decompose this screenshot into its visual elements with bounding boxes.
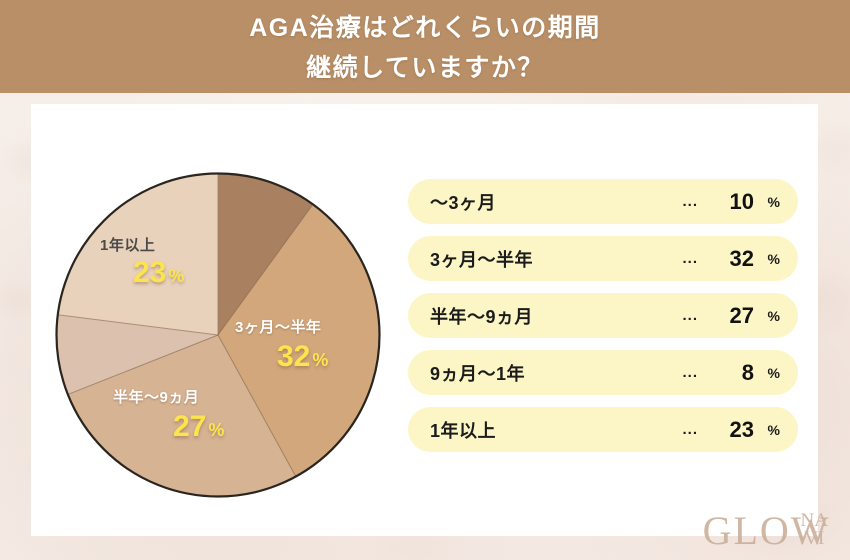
legend-label: 3ヶ月〜半年 [430, 246, 682, 272]
legend-dots: ... [682, 193, 698, 210]
pie-slices [56, 174, 379, 497]
legend-unit: % [754, 365, 780, 381]
header-banner: AGA治療はどれくらいの期間 継続していますか？ [0, 0, 850, 93]
legend-value: 27 [712, 303, 754, 329]
legend-value: 32 [712, 246, 754, 272]
legend-dots: ... [682, 364, 698, 381]
pie-slice [58, 174, 218, 336]
legend-row[interactable]: 〜3ヶ月 ... 10 % [408, 179, 798, 224]
legend-row[interactable]: 9ヵ月〜1年 ... 8 % [408, 350, 798, 395]
page-title-line-2: 継続していますか？ [306, 48, 544, 88]
legend-label: 半年〜9ヵ月 [430, 303, 682, 329]
legend-dots: ... [682, 250, 698, 267]
legend-row[interactable]: 半年〜9ヵ月 ... 27 % [408, 293, 798, 338]
legend-unit: % [754, 422, 780, 438]
legend-dots: ... [682, 307, 698, 324]
page-title-line-1: AGA治療はどれくらいの期間 [249, 8, 601, 48]
pie-chart: 1年以上 23% 3ヶ月〜半年 32% 半年〜9ヵ月 27% [55, 172, 381, 498]
legend-unit: % [754, 251, 780, 267]
legend-value: 23 [712, 417, 754, 443]
legend-unit: % [754, 194, 780, 210]
infographic-slide: AGA治療はどれくらいの期間 継続していますか？ 1年以上 23% 3ヶ月〜半年… [0, 0, 850, 560]
pie-chart-svg [55, 172, 381, 498]
legend-row[interactable]: 1年以上 ... 23 % [408, 407, 798, 452]
legend-value: 10 [712, 189, 754, 215]
legend-label: 1年以上 [430, 417, 682, 443]
legend-label: 9ヵ月〜1年 [430, 360, 682, 386]
legend-row[interactable]: 3ヶ月〜半年 ... 32 % [408, 236, 798, 281]
legend-list: 〜3ヶ月 ... 10 % 3ヶ月〜半年 ... 32 % 半年〜9ヵ月 ...… [408, 179, 798, 452]
legend-label: 〜3ヶ月 [430, 189, 682, 215]
legend-dots: ... [682, 421, 698, 438]
legend-unit: % [754, 308, 780, 324]
legend-value: 8 [712, 360, 754, 386]
